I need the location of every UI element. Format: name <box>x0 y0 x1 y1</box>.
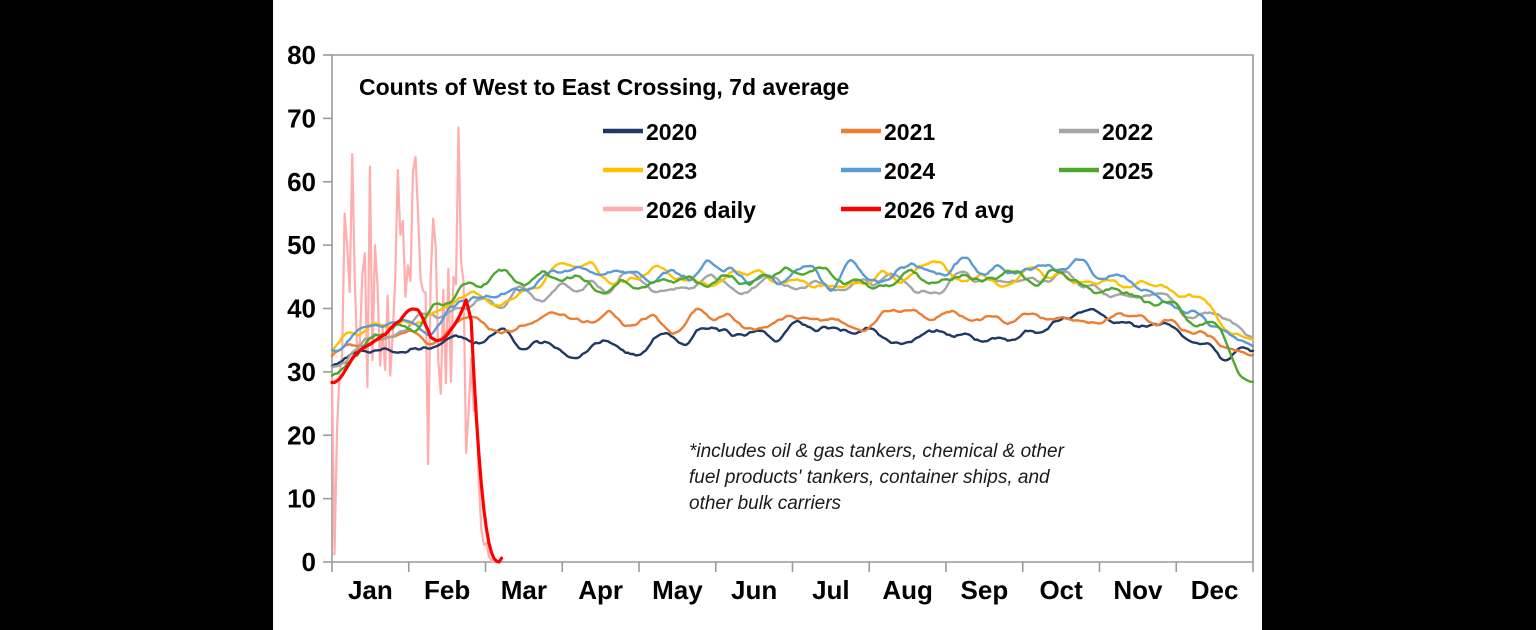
x-tick-label: Nov <box>1113 575 1163 605</box>
chart-annotation: *includes oil & gas tankers, chemical & … <box>689 441 1065 514</box>
legend-item-2022[interactable]: 2022 <box>1059 119 1153 145</box>
chart-title-group: Counts of West to East Crossing, 7d aver… <box>359 74 849 100</box>
x-tick-label: Mar <box>501 575 547 605</box>
x-tick-label: Feb <box>424 575 470 605</box>
legend-item-2020[interactable]: 2020 <box>603 119 697 145</box>
x-tick-label: Oct <box>1039 575 1083 605</box>
x-tick-label: Aug <box>882 575 933 605</box>
legend-label-2022: 2022 <box>1102 119 1153 145</box>
legend-item-2026-7d-avg[interactable]: 2026 7d avg <box>841 197 1014 223</box>
y-tick-label: 10 <box>287 484 316 514</box>
y-tick-label: 50 <box>287 230 316 260</box>
y-tick-label: 70 <box>287 103 316 133</box>
annotation-line: other bulk carriers <box>689 493 842 514</box>
legend-item-2021[interactable]: 2021 <box>841 119 935 145</box>
line-chart: 01020304050607080JanFebMarAprMayJunJulAu… <box>273 0 1262 630</box>
x-tick-label: May <box>652 575 703 605</box>
legend-item-2024[interactable]: 2024 <box>841 158 935 184</box>
chart-panel: 01020304050607080JanFebMarAprMayJunJulAu… <box>273 0 1262 630</box>
y-tick-label: 60 <box>287 167 316 197</box>
y-tick-label: 30 <box>287 357 316 387</box>
x-tick-label: Sep <box>961 575 1009 605</box>
annotation-line: *includes oil & gas tankers, chemical & … <box>689 441 1065 462</box>
y-tick-label: 0 <box>302 547 316 577</box>
x-tick-label: Jun <box>731 575 777 605</box>
legend-label-2026-7d-avg: 2026 7d avg <box>884 197 1014 223</box>
x-tick-label: Jul <box>812 575 850 605</box>
x-tick-label: Apr <box>578 575 623 605</box>
legend-item-2025[interactable]: 2025 <box>1059 158 1153 184</box>
legend-label-2023: 2023 <box>646 158 697 184</box>
y-tick-label: 20 <box>287 420 316 450</box>
legend-item-2026-daily[interactable]: 2026 daily <box>603 197 756 223</box>
annotation-line: fuel products' tankers, container ships,… <box>689 467 1051 488</box>
x-tick-label: Jan <box>348 575 393 605</box>
chart-legend: 2020202120222023202420252026 daily2026 7… <box>603 119 1153 223</box>
screenshot-root: 01020304050607080JanFebMarAprMayJunJulAu… <box>0 0 1536 630</box>
legend-label-2024: 2024 <box>884 158 935 184</box>
y-tick-label: 80 <box>287 40 316 70</box>
legend-label-2020: 2020 <box>646 119 697 145</box>
legend-label-2025: 2025 <box>1102 158 1153 184</box>
legend-item-2023[interactable]: 2023 <box>603 158 697 184</box>
legend-label-2021: 2021 <box>884 119 935 145</box>
chart-title: Counts of West to East Crossing, 7d aver… <box>359 74 849 100</box>
legend-label-2026-daily: 2026 daily <box>646 197 756 223</box>
x-tick-label: Dec <box>1191 575 1239 605</box>
y-tick-label: 40 <box>287 294 316 324</box>
